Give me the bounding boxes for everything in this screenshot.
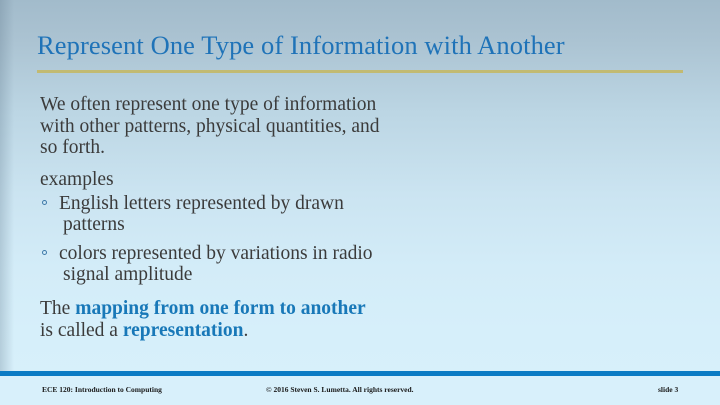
footer-slide-number: slide 3 (658, 385, 678, 395)
closing-line-2-prefix: is called a (40, 320, 123, 341)
closing-line-1: The mapping from one form to another (40, 298, 660, 320)
list-item-line-1: colors represented by variations in radi… (59, 243, 660, 265)
closing-line-1-prefix: The (40, 298, 75, 319)
footer-copyright-label: © 2016 Steven S. Lumetta. All rights res… (266, 385, 414, 395)
list-item-line-1: English letters represented by drawn (59, 193, 660, 215)
examples-label: examples (40, 169, 660, 191)
slide-canvas: Represent One Type of Information with A… (0, 0, 720, 405)
closing-line-2-suffix: . (243, 320, 248, 341)
closing-emphasis-mapping: mapping from one form to another (75, 298, 366, 319)
intro-line-1: We often represent one type of informati… (40, 94, 660, 116)
closing-emphasis-representation: representation (123, 320, 244, 341)
list-item: colors represented by variations in radi… (40, 243, 660, 286)
hollow-circle-bullet-icon (42, 250, 47, 255)
title-divider (37, 70, 683, 73)
hollow-circle-bullet-icon (42, 200, 47, 205)
closing-paragraph: The mapping from one form to another is … (40, 298, 660, 342)
examples-list: English letters represented by drawn pat… (40, 193, 660, 286)
closing-line-2: is called a representation. (40, 320, 660, 342)
intro-paragraph: We often represent one type of informati… (40, 94, 660, 159)
slide-body: We often represent one type of informati… (40, 94, 660, 342)
list-item-line-2: patterns (59, 214, 660, 236)
list-item: English letters represented by drawn pat… (40, 193, 660, 236)
page-title: Represent One Type of Information with A… (37, 29, 687, 61)
intro-line-3: so forth. (40, 137, 660, 159)
intro-line-2: with other patterns, physical quantities… (40, 116, 660, 138)
list-item-line-2: signal amplitude (59, 264, 660, 286)
footer-course-label: ECE 120: Introduction to Computing (42, 385, 162, 395)
